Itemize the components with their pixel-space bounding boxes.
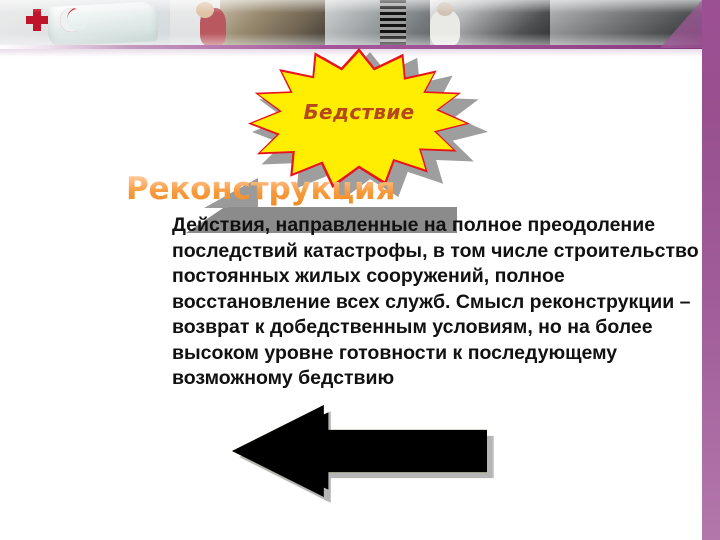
body-paragraph: Действия, направленные на полное преодол… — [172, 213, 700, 392]
left-arrow-outline — [232, 405, 487, 497]
figure-head-shape — [196, 2, 214, 18]
starburst-badge-label: Бедствие — [248, 100, 470, 124]
railing-bars-shape — [380, 0, 406, 46]
page-title: Реконструкция — [126, 171, 395, 207]
red-cross-icon — [26, 9, 48, 31]
right-accent-bar — [702, 0, 720, 540]
slide-canvas: Бедствие Реконструкция Действия, направл… — [0, 0, 720, 540]
child-head-shape — [437, 2, 453, 16]
photo-woman-in-doorway — [220, 0, 325, 46]
photo-railings — [325, 0, 430, 46]
red-crescent-icon — [60, 8, 84, 32]
